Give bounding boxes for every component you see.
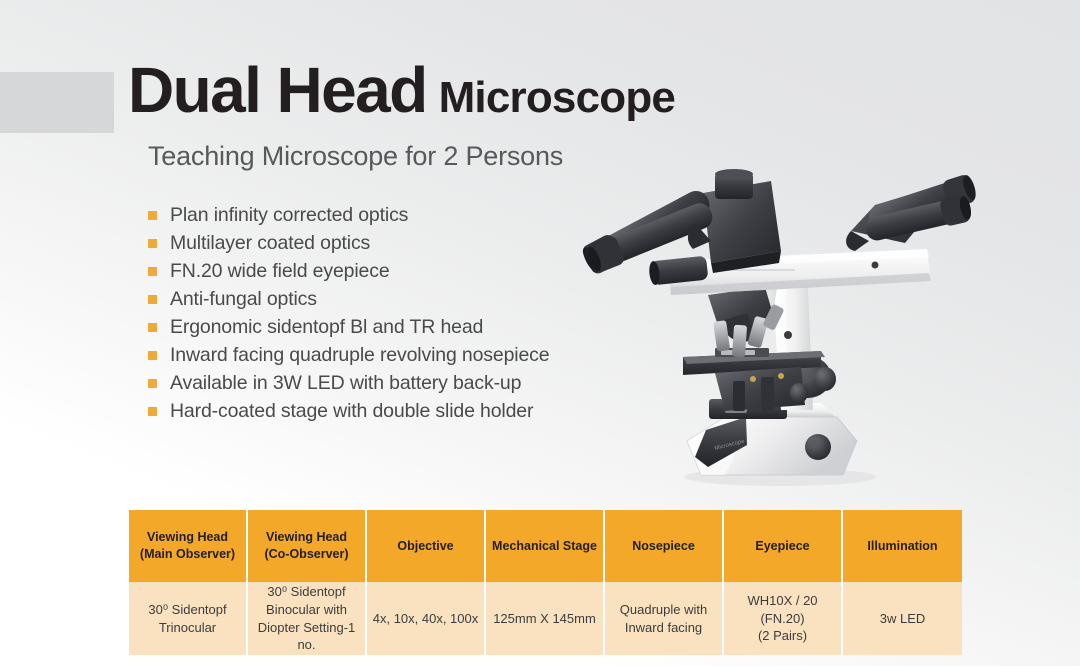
feature-label: Plan infinity corrected optics	[170, 204, 408, 227]
column-header-viewing-head-main: Viewing Head (Main Observer)	[129, 510, 248, 582]
list-item: Available in 3W LED with battery back-up	[148, 372, 549, 397]
feature-label: Inward facing quadruple revolving nosepi…	[170, 344, 549, 367]
cell-viewing-head-main: 30⁰ Sidentopf Trinocular	[129, 582, 248, 655]
bullet-square-icon	[148, 407, 157, 416]
brochure-page: Dual HeadMicroscope Teaching Microscope …	[0, 0, 1080, 666]
product-photo: Microscope	[575, 145, 985, 495]
feature-label: FN.20 wide field eyepiece	[170, 260, 390, 283]
list-item: Anti-fungal optics	[148, 287, 549, 312]
cell-objective: 4x, 10x, 40x, 100x	[367, 582, 486, 655]
cell-mechanical-stage: 125mm X 145mm	[486, 582, 605, 655]
title-main-text: Dual Head	[128, 54, 427, 126]
cell-viewing-head-co: 30⁰ Sidentopf Binocular with Diopter Set…	[248, 582, 367, 655]
bullet-square-icon	[148, 239, 157, 248]
title-secondary-text: Microscope	[439, 73, 676, 122]
list-item: Inward facing quadruple revolving nosepi…	[148, 343, 549, 368]
column-header-eyepiece: Eyepiece	[724, 510, 843, 582]
column-header-illumination: Illumination	[843, 510, 962, 582]
list-item: Ergonomic sidentopf Bl and TR head	[148, 315, 549, 340]
list-item: Multilayer coated optics	[148, 231, 549, 256]
specification-table: Viewing Head (Main Observer) Viewing Hea…	[129, 510, 962, 655]
bullet-square-icon	[148, 267, 157, 276]
cell-illumination: 3w LED	[843, 582, 962, 655]
bullet-square-icon	[148, 295, 157, 304]
feature-list: Plan infinity corrected optics Multilaye…	[148, 203, 549, 428]
bullet-square-icon	[148, 211, 157, 220]
feature-label: Available in 3W LED with battery back-up	[170, 372, 521, 395]
bullet-square-icon	[148, 323, 157, 332]
page-subtitle: Teaching Microscope for 2 Persons	[148, 141, 563, 172]
column-header-objective: Objective	[367, 510, 486, 582]
page-title: Dual HeadMicroscope	[128, 58, 675, 122]
table-row: 30⁰ Sidentopf Trinocular 30⁰ Sidentopf B…	[129, 582, 962, 655]
column-header-mechanical-stage: Mechanical Stage	[486, 510, 605, 582]
cell-eyepiece: WH10X / 20 (FN.20) (2 Pairs)	[724, 582, 843, 655]
column-header-viewing-head-co: Viewing Head (Co-Observer)	[248, 510, 367, 582]
title-accent-block	[0, 72, 114, 133]
bullet-square-icon	[148, 351, 157, 360]
list-item: Plan infinity corrected optics	[148, 203, 549, 228]
feature-label: Anti-fungal optics	[170, 288, 317, 311]
column-header-nosepiece: Nosepiece	[605, 510, 724, 582]
feature-label: Multilayer coated optics	[170, 232, 370, 255]
list-item: Hard-coated stage with double slide hold…	[148, 400, 549, 425]
feature-label: Hard-coated stage with double slide hold…	[170, 400, 533, 423]
feature-label: Ergonomic sidentopf Bl and TR head	[170, 316, 483, 339]
table-header-row: Viewing Head (Main Observer) Viewing Hea…	[129, 510, 962, 582]
cell-nosepiece: Quadruple with Inward facing	[605, 582, 724, 655]
bullet-square-icon	[148, 379, 157, 388]
list-item: FN.20 wide field eyepiece	[148, 259, 549, 284]
